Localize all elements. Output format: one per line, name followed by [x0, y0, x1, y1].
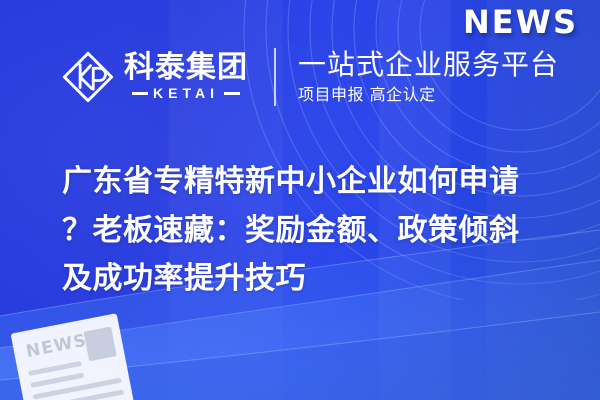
- header-divider: [274, 48, 276, 106]
- headline: 广东省专精特新中小企业如何申请 ？老板速藏：奖励金额、政策倾斜 及成功率提升技巧: [62, 158, 562, 304]
- brand-name-en-row: KETAI: [124, 85, 248, 102]
- brand-rule-right-icon: [224, 92, 240, 95]
- brand-rule-left-icon: [132, 92, 148, 95]
- brand-name-en: KETAI: [153, 85, 219, 102]
- ketai-diamond-kp-logo-icon: [60, 49, 116, 105]
- brand-name-cn: 科泰集团: [124, 52, 248, 84]
- headline-line-1: 广东省专精特新中小企业如何申请: [62, 158, 562, 207]
- tagline-main: 一站式企业服务平台: [298, 49, 559, 80]
- tagline-sub: 项目申报 高企认定: [298, 85, 559, 105]
- brand-logo[interactable]: 科泰集团 KETAI: [60, 44, 248, 110]
- tagline-block: 一站式企业服务平台 项目申报 高企认定: [298, 49, 559, 104]
- news-wordmark: NEWS: [463, 6, 578, 38]
- headline-line-3: 及成功率提升技巧: [62, 255, 562, 304]
- brand-logo-text: 科泰集团 KETAI: [124, 52, 248, 102]
- headline-line-2: ？老板速藏：奖励金额、政策倾斜: [62, 207, 562, 256]
- banner-header: 科泰集团 KETAI 一站式企业服务平台 项目申报 高企认定: [60, 42, 559, 112]
- news-banner: NEWS 科泰集团: [0, 0, 600, 400]
